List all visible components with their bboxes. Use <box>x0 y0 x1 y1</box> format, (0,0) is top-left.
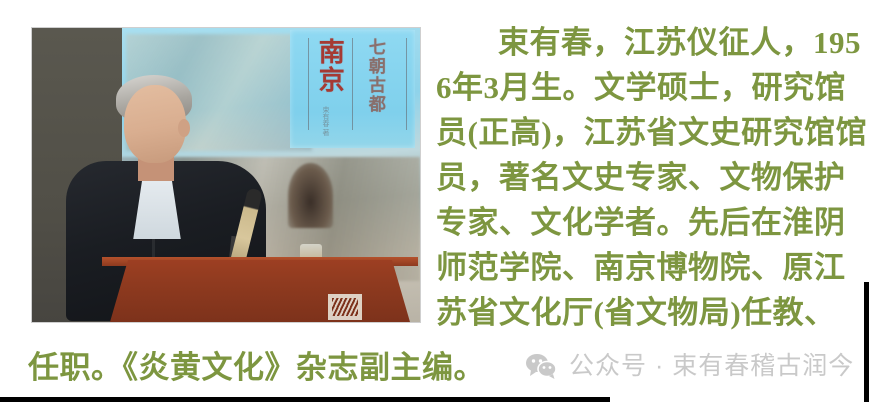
photo-inner: 南京 七朝古都 束有春 著 <box>32 28 420 322</box>
speaker-photo: 南京 七朝古都 束有春 著 <box>31 27 421 323</box>
wechat-account-label: 公众号 · 束有春稽古润今 <box>569 352 854 380</box>
book-title-main: 南京 <box>316 38 343 94</box>
book-title-sub: 七朝古都 <box>366 38 384 114</box>
biography-card: 南京 七朝古都 束有春 著 束有春，江苏仪征人，19 <box>0 0 869 402</box>
slide-city-gate <box>288 163 333 228</box>
book-author: 束有春 著 <box>320 106 330 136</box>
book-rule-left <box>308 38 309 130</box>
podium-emblem <box>328 294 362 320</box>
biography-tail-line: 任职。《炎黄文化》杂志副主编。 <box>28 350 485 386</box>
podium <box>110 260 410 322</box>
speaker-ear <box>178 119 190 137</box>
speaker-head <box>124 85 186 163</box>
book-rule-mid <box>352 38 353 130</box>
book-cover-graphic: 南京 七朝古都 束有春 著 <box>290 30 415 148</box>
bottom-edge-line <box>0 397 610 402</box>
book-rule-right <box>406 38 407 130</box>
wechat-icon <box>525 353 557 379</box>
biography-paragraph: 束有春，江苏仪征人，1956年3月生。文学硕士，研究馆员(正高)，江苏省文史研究… <box>436 20 868 335</box>
right-edge-line <box>864 282 869 402</box>
biography-text-column: 束有春，江苏仪征人，1956年3月生。文学硕士，研究馆员(正高)，江苏省文史研究… <box>436 20 868 335</box>
wechat-attribution[interactable]: 公众号 · 束有春稽古润今 <box>525 352 854 380</box>
